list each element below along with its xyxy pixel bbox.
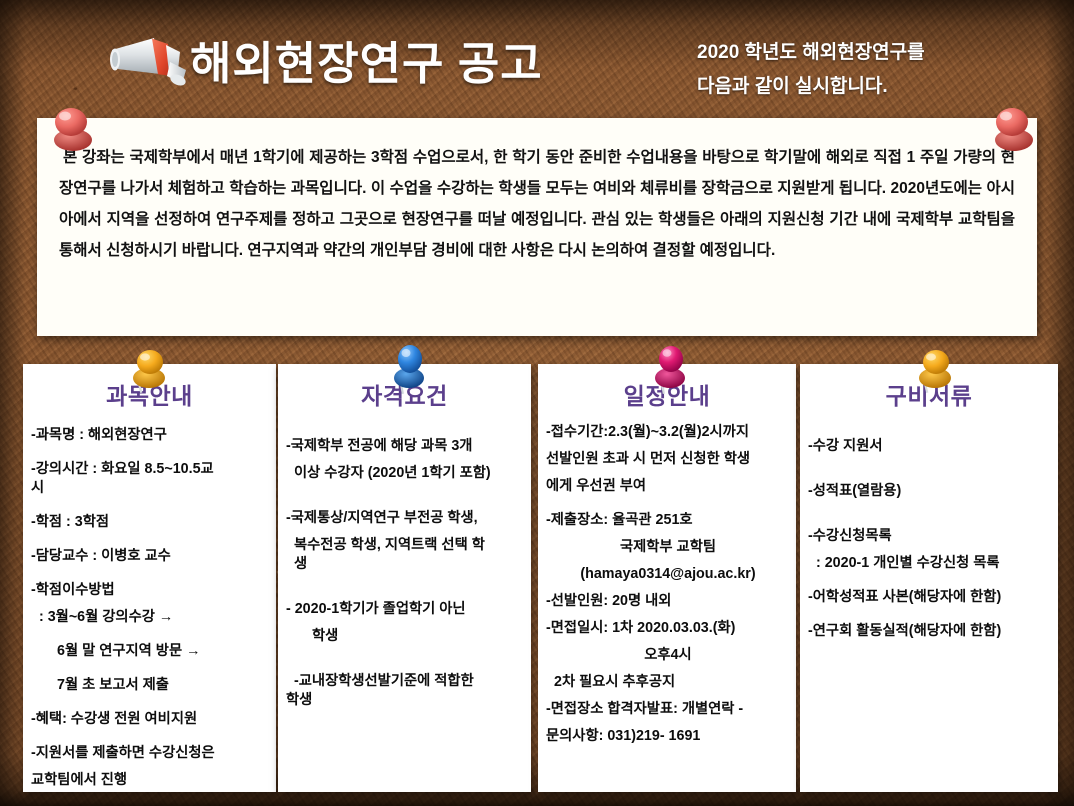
list-item: 생 [286,555,525,574]
list-item: -혜택: 수강생 전원 여비지원 [31,710,270,729]
info-card-title-eligibility: 자격요건 [278,377,531,411]
list-item: -면접장소 합격자발표: 개별연락 - [546,700,790,719]
list-item: -학점이수방법 [31,581,270,600]
info-card-title-documents: 구비서류 [800,377,1058,411]
list-item: 2차 필요시 추후공지 [546,673,790,692]
list-item: -학점 : 3학점 [31,513,270,532]
info-card-body-documents: -수강 지원서 -성적표(열람용) -수강신청목록 : 2020-1 개인별 수… [800,437,1058,641]
list-item: -지원서를 제출하면 수강신청은 [31,744,270,763]
list-item: -국제학부 전공에 해당 과목 3개 [286,437,525,456]
list-item: -수강 지원서 [808,437,1052,456]
list-item: -제출장소: 율곡관 251호 [546,511,790,530]
list-item: -과목명 : 해외현장연구 [31,426,270,445]
notice-body: 본 강좌는 국제학부에서 매년 1학기에 제공하는 3학점 수업으로서, 한 학… [37,118,1037,266]
megaphone-icon [108,36,196,90]
list-item: -연구회 활동실적(해당자에 한함) [808,622,1052,641]
list-item: 시 [31,479,270,498]
list-item: 학생 [286,691,525,710]
list-item: 7월 초 보고서 제출 [31,676,270,695]
info-card-subject: 과목안내 -과목명 : 해외현장연구 -강의시간 : 화요일 8.5~10.5교… [23,364,276,792]
page-title: 해외현장연구 공고 [190,27,543,92]
header-subtitle-line-2: 다음과 같이 실시합니다. [697,70,1027,104]
list-item: -교내장학생선발기준에 적합한 [286,672,525,691]
list-item: 선발인원 초과 시 먼저 신청한 학생 [546,450,790,469]
info-card-documents: 구비서류 -수강 지원서 -성적표(열람용) -수강신청목록 : 2020-1 … [800,364,1058,792]
info-card-body-subject: -과목명 : 해외현장연구 -강의시간 : 화요일 8.5~10.5교 시 -학… [23,426,276,790]
list-item: 복수전공 학생, 지역트랙 선택 학 [286,536,525,555]
info-card-body-eligibility: -국제학부 전공에 해당 과목 3개 이상 수강자 (2020년 1학기 포함)… [278,437,531,710]
list-item: -접수기간:2.3(월)~3.2(월)2시까지 [546,423,790,442]
info-card-title-subject: 과목안내 [23,377,276,411]
list-item: 6월 말 연구지역 방문 → [31,642,270,661]
email-text: (hamaya0314@ajou.ac.kr) [546,565,790,584]
list-item: -어학성적표 사본(해당자에 한함) [808,588,1052,607]
list-item: 이상 수강자 (2020년 1학기 포함) [286,464,525,483]
list-item: 에게 우선권 부여 [546,477,790,496]
list-item: -강의시간 : 화요일 8.5~10.5교 [31,460,270,479]
notice-paragraph: 본 강좌는 국제학부에서 매년 1학기에 제공하는 3학점 수업으로서, 한 학… [59,142,1015,266]
phone-text: 문의사항: 031)219- 1691 [546,727,790,746]
info-columns: 과목안내 -과목명 : 해외현장연구 -강의시간 : 화요일 8.5~10.5교… [0,364,1074,796]
info-card-schedule: 일정안내 -접수기간:2.3(월)~3.2(월)2시까지 선발인원 초과 시 먼… [538,364,796,792]
list-item: - 2020-1학기가 졸업학기 아닌 [286,600,525,619]
notice-card: 본 강좌는 국제학부에서 매년 1학기에 제공하는 3학점 수업으로서, 한 학… [37,118,1037,336]
info-card-eligibility: 자격요건 -국제학부 전공에 해당 과목 3개 이상 수강자 (2020년 1학… [278,364,531,792]
header-subtitle: 2020 학년도 해외현장연구를 다음과 같이 실시합니다. [697,36,1027,104]
list-item: -성적표(열람용) [808,482,1052,501]
list-item: -면접일시: 1차 2020.03.03.(화) [546,619,790,638]
info-card-body-schedule: -접수기간:2.3(월)~3.2(월)2시까지 선발인원 초과 시 먼저 신청한… [538,423,796,746]
poster-header: 해외현장연구 공고 2020 학년도 해외현장연구를 다음과 같이 실시합니다. [0,0,1074,126]
list-item: : 3월~6월 강의수강 → [31,608,270,627]
list-item: : 2020-1 개인별 수강신청 목록 [808,554,1052,573]
list-item: 오후4시 [546,646,790,665]
header-subtitle-line-1: 2020 학년도 해외현장연구를 [697,36,1027,70]
list-item: -선발인원: 20명 내외 [546,592,790,611]
list-item: -담당교수 : 이병호 교수 [31,547,270,566]
list-item: 학생 [286,627,525,646]
list-item: 국제학부 교학팀 [546,538,790,557]
poster-corkboard: 해외현장연구 공고 2020 학년도 해외현장연구를 다음과 같이 실시합니다.… [0,0,1074,806]
info-card-title-schedule: 일정안내 [538,377,796,411]
list-item: 교학팀에서 진행 [31,771,270,790]
list-item: -국제통상/지역연구 부전공 학생, [286,509,525,528]
list-item: -수강신청목록 [808,527,1052,546]
